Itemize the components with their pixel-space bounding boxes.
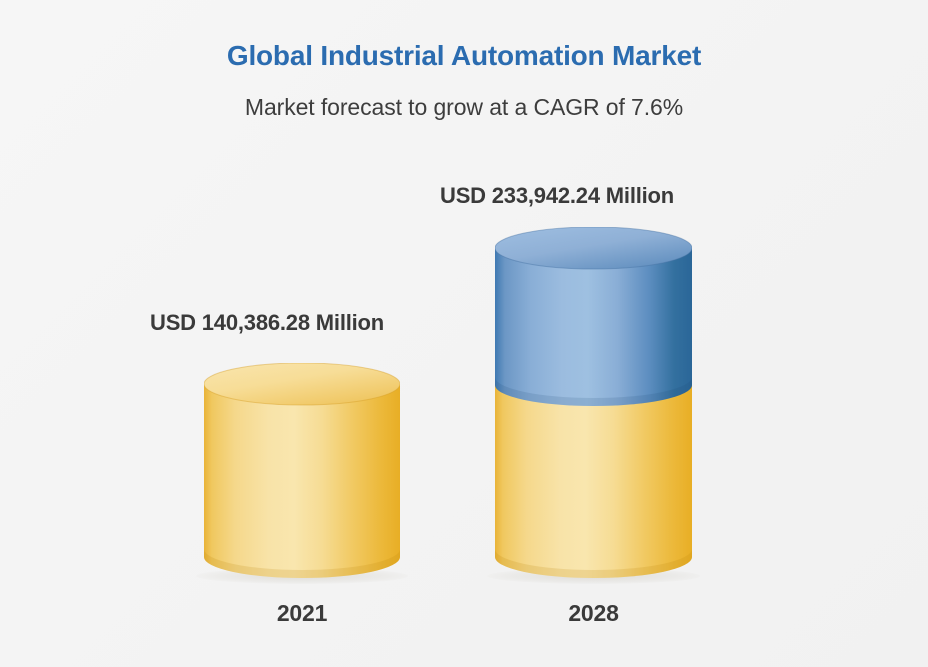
chart-subtitle: Market forecast to grow at a CAGR of 7.6… — [0, 94, 928, 121]
chart-title: Global Industrial Automation Market — [0, 40, 928, 72]
chart-container: Global Industrial Automation Market Mark… — [0, 0, 928, 667]
bar-cylinder-2021[interactable] — [204, 363, 400, 581]
bar-cylinder-2028[interactable] — [495, 227, 692, 581]
category-label-2021: 2021 — [204, 600, 400, 627]
category-label-2028: 2028 — [495, 600, 692, 627]
bar-value-label-2028: USD 233,942.24 Million — [440, 183, 674, 209]
bar-value-label-2021: USD 140,386.28 Million — [150, 310, 384, 336]
